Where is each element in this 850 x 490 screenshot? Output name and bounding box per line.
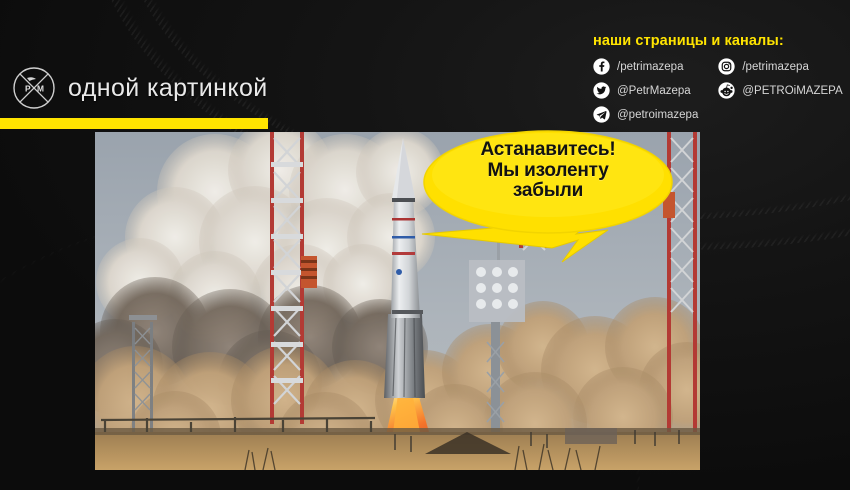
speech-bubble-shape: [412, 126, 684, 281]
facebook-icon: [593, 58, 610, 75]
reddit-icon: [718, 82, 735, 99]
social-column-left: /petrimazepa @PetrMazepa @petroimazepa: [593, 58, 698, 123]
social-link-instagram[interactable]: /petrimazepa: [718, 58, 842, 75]
brand-accent-bar: [0, 118, 268, 129]
social-link-reddit[interactable]: @PETROiMAZEPA: [718, 82, 842, 99]
social-handle-telegram: @petroimazepa: [617, 109, 698, 121]
social-handle-reddit: @PETROiMAZEPA: [742, 85, 842, 97]
speech-bubble: Астанавитесь! Мы изоленту забыли: [412, 126, 684, 281]
social-handle-facebook: /petrimazepa: [617, 61, 683, 73]
social-handle-twitter: @PetrMazepa: [617, 85, 691, 97]
brand-logo[interactable]: P M одной картинкой: [12, 66, 268, 110]
meme-card: P M одной картинкой наши страницы и кана…: [0, 0, 850, 490]
social-column-right: /petrimazepa @PETROiMAZEPA: [718, 58, 842, 123]
social-link-telegram[interactable]: @petroimazepa: [593, 106, 698, 123]
svg-text:M: M: [37, 84, 44, 94]
twitter-icon: [593, 82, 610, 99]
telegram-icon: [593, 106, 610, 123]
social-handle-instagram: /petrimazepa: [742, 61, 808, 73]
social-links-panel: наши страницы и каналы: /petrimazepa @Pe…: [593, 33, 843, 123]
petr-mazepa-logo-icon: P M: [12, 66, 56, 110]
social-link-twitter[interactable]: @PetrMazepa: [593, 82, 698, 99]
social-link-facebook[interactable]: /petrimazepa: [593, 58, 698, 75]
svg-text:P: P: [25, 84, 31, 94]
brand-name: одной картинкой: [68, 74, 268, 103]
social-panel-title: наши страницы и каналы:: [593, 33, 843, 49]
instagram-icon: [718, 58, 735, 75]
